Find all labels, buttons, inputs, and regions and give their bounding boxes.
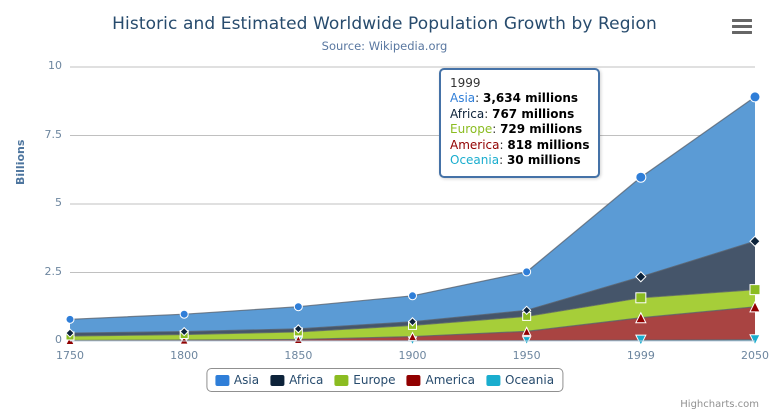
y-axis-tick-label: 5 <box>18 196 62 209</box>
data-point-europe-1999 <box>636 293 646 303</box>
x-axis-tick-label: 1950 <box>497 349 557 362</box>
tooltip-series-name: Asia <box>450 91 475 105</box>
data-point-asia-2050 <box>750 92 760 102</box>
x-axis-tick-label: 2050 <box>725 349 769 362</box>
tooltip-row-america: America: 818 millions <box>450 138 589 154</box>
credits-label[interactable]: Highcharts.com <box>680 399 759 410</box>
tooltip-series-value: 729 millions <box>500 122 582 136</box>
data-point-asia-1999 <box>636 172 646 182</box>
tooltip-series-name: Oceania <box>450 153 499 167</box>
tooltip-series-name: Europe <box>450 122 492 136</box>
legend-label: America <box>426 373 476 387</box>
legend-label: Europe <box>353 373 395 387</box>
legend-item-asia[interactable]: Asia <box>215 373 259 387</box>
legend-swatch-icon <box>270 375 284 386</box>
tooltip-series-value: 767 millions <box>492 107 574 121</box>
tooltip-series-name: America <box>450 138 500 152</box>
tooltip-separator: : <box>499 153 507 167</box>
y-axis-tick-label: 7.5 <box>18 128 62 141</box>
chart-legend: AsiaAfricaEuropeAmericaOceania <box>206 368 563 392</box>
chart-tooltip: 1999 Asia: 3,634 millionsAfrica: 767 mil… <box>439 68 600 178</box>
tooltip-series-value: 3,634 millions <box>483 91 578 105</box>
legend-swatch-icon <box>215 375 229 386</box>
tooltip-separator: : <box>492 122 500 136</box>
legend-label: Asia <box>234 373 259 387</box>
legend-item-europe[interactable]: Europe <box>334 373 395 387</box>
tooltip-row-africa: Africa: 767 millions <box>450 107 589 123</box>
legend-swatch-icon <box>407 375 421 386</box>
x-axis-tick-label: 1900 <box>383 349 443 362</box>
y-axis-tick-label: 10 <box>18 59 62 72</box>
y-axis-title: Billions <box>14 140 27 185</box>
legend-item-oceania[interactable]: Oceania <box>486 373 554 387</box>
data-point-europe-2050 <box>750 285 760 295</box>
highcharts-container: Historic and Estimated Worldwide Populat… <box>0 0 769 416</box>
y-axis-tick-label: 2.5 <box>18 265 62 278</box>
tooltip-separator: : <box>484 107 492 121</box>
tooltip-series-name: Africa <box>450 107 484 121</box>
data-point-asia-1850 <box>294 303 302 311</box>
tooltip-header: 1999 <box>450 76 589 90</box>
tooltip-separator: : <box>475 91 483 105</box>
tooltip-series-value: 30 millions <box>507 153 581 167</box>
legend-label: Oceania <box>505 373 554 387</box>
data-point-asia-1750 <box>66 315 74 323</box>
x-axis-tick-label: 1850 <box>268 349 328 362</box>
x-axis-tick-label: 1750 <box>40 349 100 362</box>
legend-label: Africa <box>289 373 323 387</box>
data-point-asia-1900 <box>409 292 417 300</box>
legend-item-africa[interactable]: Africa <box>270 373 323 387</box>
x-axis-tick-label: 1999 <box>611 349 671 362</box>
x-axis-tick-label: 1800 <box>154 349 214 362</box>
data-point-asia-1950 <box>523 268 531 276</box>
tooltip-row-oceania: Oceania: 30 millions <box>450 153 589 169</box>
tooltip-series-value: 818 millions <box>507 138 589 152</box>
data-point-asia-1800 <box>180 310 188 318</box>
legend-item-america[interactable]: America <box>407 373 476 387</box>
tooltip-row-europe: Europe: 729 millions <box>450 122 589 138</box>
y-axis-tick-label: 0 <box>18 333 62 346</box>
legend-swatch-icon <box>334 375 348 386</box>
legend-swatch-icon <box>486 375 500 386</box>
tooltip-row-asia: Asia: 3,634 millions <box>450 91 589 107</box>
